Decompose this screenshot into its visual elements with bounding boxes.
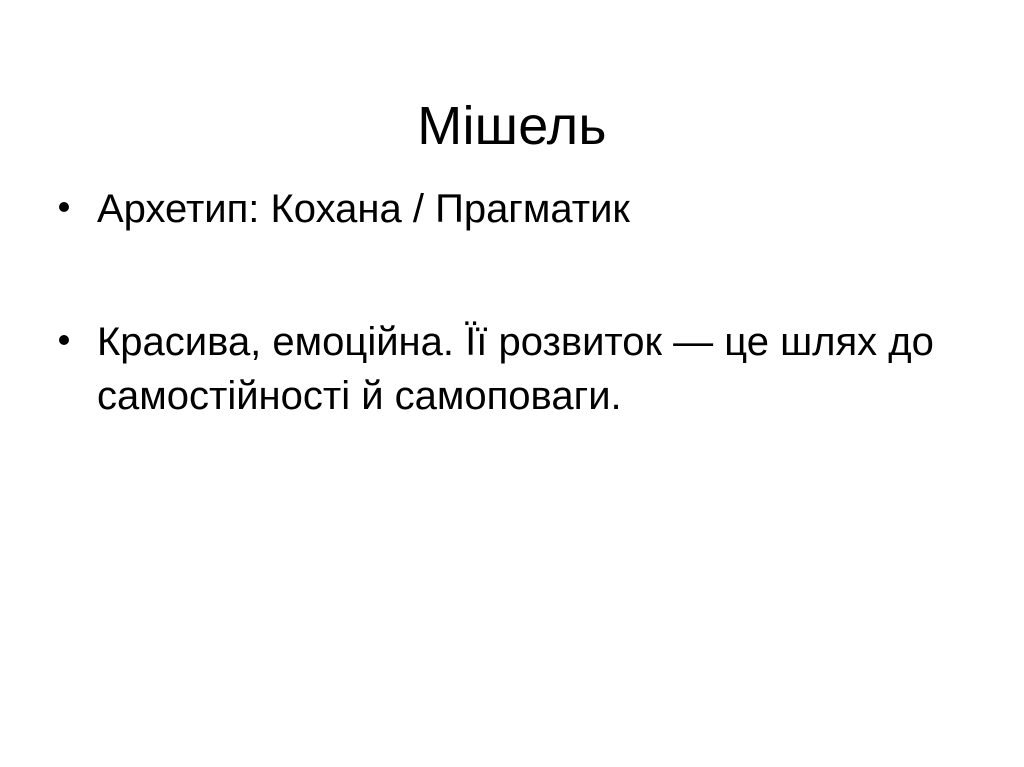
list-item: Красива, емоційна. Її розвиток — це шлях… (56, 315, 944, 423)
slide-canvas: Мішель Архетип: Кохана / Прагматик Краси… (0, 0, 1024, 767)
bullet-dot-icon (59, 182, 83, 236)
slide-body: Архетип: Кохана / Прагматик Красива, емо… (56, 182, 944, 423)
page-title: Мішель (0, 94, 1024, 158)
bullet-list: Архетип: Кохана / Прагматик Красива, емо… (56, 182, 944, 423)
list-item-text: Красива, емоційна. Її розвиток — це шлях… (97, 315, 944, 423)
list-item-text: Архетип: Кохана / Прагматик (97, 182, 944, 236)
list-item: Архетип: Кохана / Прагматик (56, 182, 944, 236)
bullet-dot-icon (59, 315, 83, 369)
